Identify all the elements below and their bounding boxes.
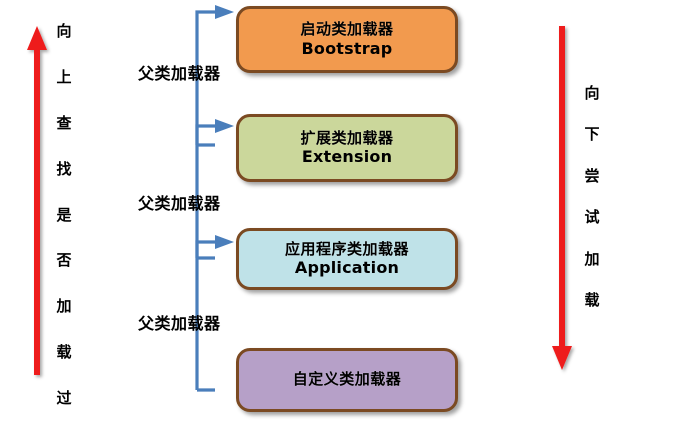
node-bootstrap-cn-label: 启动类加载器: [300, 21, 393, 38]
node-bootstrap-en-label: Bootstrap: [302, 39, 393, 58]
right-caption-char: 载: [584, 293, 599, 308]
node-application-en-label: Application: [295, 258, 399, 277]
connector-label-parent-loader-3: 父类加载器: [138, 310, 221, 334]
left-caption-char: 向: [56, 24, 71, 39]
diagram-canvas: 启动类加载器 Bootstrap 扩展类加载器 Extension 应用程序类加…: [0, 0, 689, 432]
left-caption-search-upward: 向 上 查 找 是 否 加 载 过: [52, 24, 76, 406]
right-caption-char: 向: [584, 86, 599, 101]
node-extension-cn-label: 扩展类加载器: [300, 130, 393, 147]
connector-stubs: [197, 145, 215, 390]
left-caption-char: 载: [56, 345, 71, 360]
left-caption-char: 找: [56, 162, 71, 177]
left-caption-char: 否: [56, 253, 71, 268]
node-application-cn-label: 应用程序类加载器: [285, 241, 409, 258]
left-caption-char: 加: [56, 299, 71, 314]
up-arrow-icon: [27, 26, 47, 375]
right-caption-char: 尝: [584, 169, 599, 184]
connector-label-parent-loader-1: 父类加载器: [138, 60, 221, 84]
connector-label-parent-loader-2: 父类加载器: [138, 190, 221, 214]
left-caption-char: 是: [56, 208, 71, 223]
right-caption-char: 下: [584, 127, 599, 142]
node-custom-cn-label: 自定义类加载器: [293, 371, 402, 388]
right-caption-char: 加: [584, 252, 599, 267]
node-extension-classloader[interactable]: 扩展类加载器 Extension: [236, 114, 458, 182]
down-arrow-icon: [552, 26, 572, 370]
right-caption-char: 试: [584, 210, 599, 225]
left-caption-char: 过: [56, 391, 71, 406]
right-caption-load-downward: 向 下 尝 试 加 载: [580, 86, 604, 308]
node-bootstrap-classloader[interactable]: 启动类加载器 Bootstrap: [236, 6, 458, 73]
left-caption-char: 查: [56, 116, 71, 131]
node-custom-classloader[interactable]: 自定义类加载器: [236, 348, 458, 412]
node-application-classloader[interactable]: 应用程序类加载器 Application: [236, 228, 458, 290]
node-extension-en-label: Extension: [302, 147, 392, 166]
left-caption-char: 上: [56, 70, 71, 85]
